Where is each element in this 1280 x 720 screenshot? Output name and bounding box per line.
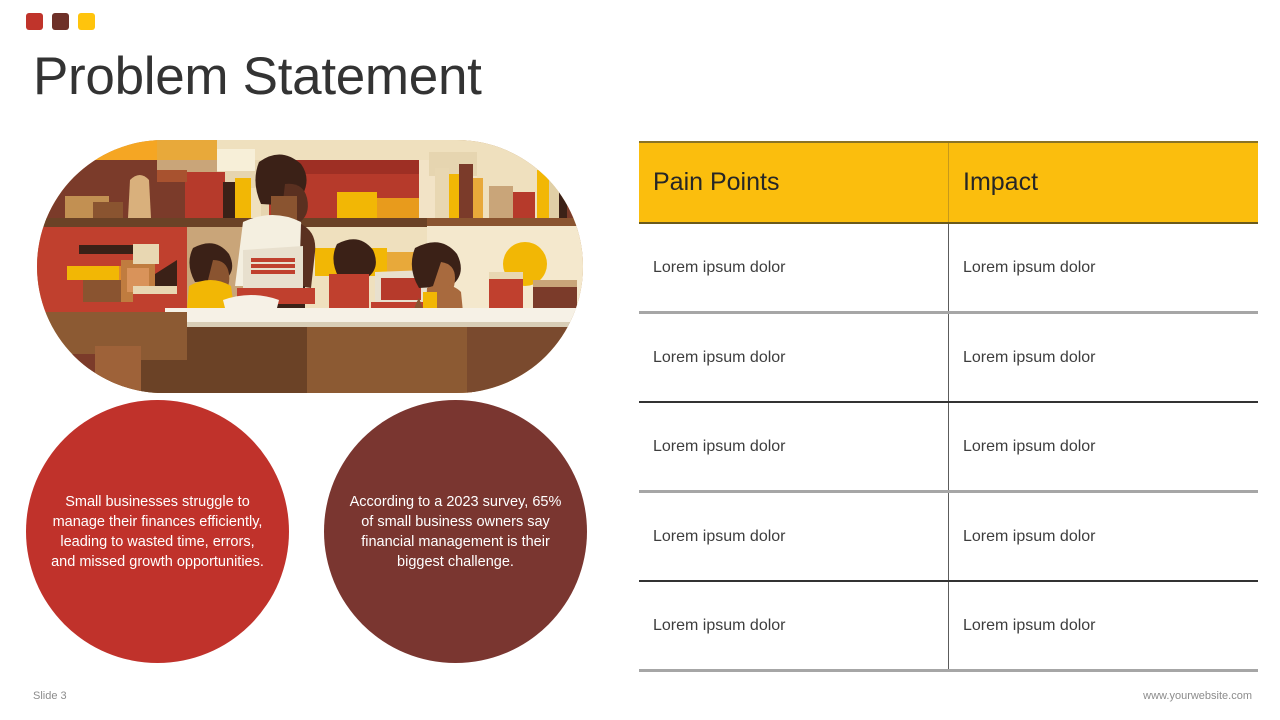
illustration-workshop-scene	[37, 140, 583, 393]
cell-pain-point: Lorem ipsum dolor	[639, 313, 949, 403]
slide-number: Slide 3	[33, 690, 67, 702]
slide-root: Problem Statement	[0, 0, 1280, 720]
cell-impact: Lorem ipsum dolor	[949, 492, 1259, 582]
circle-problem: Small businesses struggle to manage thei…	[26, 400, 289, 663]
decor-squares	[26, 13, 95, 30]
website-label: www.yourwebsite.com	[1143, 690, 1252, 702]
cell-pain-point: Lorem ipsum dolor	[639, 223, 949, 313]
circle-statistic-text: According to a 2023 survey, 65% of small…	[346, 492, 565, 572]
table-row: Lorem ipsum dolor Lorem ipsum dolor	[639, 492, 1258, 582]
cell-pain-point: Lorem ipsum dolor	[639, 581, 949, 671]
column-header-impact: Impact	[949, 142, 1259, 223]
table-row: Lorem ipsum dolor Lorem ipsum dolor	[639, 313, 1258, 403]
cell-pain-point: Lorem ipsum dolor	[639, 492, 949, 582]
cell-pain-point: Lorem ipsum dolor	[639, 402, 949, 492]
table-row: Lorem ipsum dolor Lorem ipsum dolor	[639, 223, 1258, 313]
pain-points-table: Pain Points Impact Lorem ipsum dolor Lor…	[639, 141, 1258, 672]
circle-statistic: According to a 2023 survey, 65% of small…	[324, 400, 587, 663]
column-header-pain-points: Pain Points	[639, 142, 949, 223]
table-header: Pain Points Impact	[639, 142, 1258, 223]
cell-impact: Lorem ipsum dolor	[949, 223, 1259, 313]
cell-impact: Lorem ipsum dolor	[949, 402, 1259, 492]
table-header-row: Pain Points Impact	[639, 142, 1258, 223]
table-row: Lorem ipsum dolor Lorem ipsum dolor	[639, 402, 1258, 492]
table-row: Lorem ipsum dolor Lorem ipsum dolor	[639, 581, 1258, 671]
square-red-icon	[26, 13, 43, 30]
circle-problem-text: Small businesses struggle to manage thei…	[48, 492, 267, 572]
cell-impact: Lorem ipsum dolor	[949, 581, 1259, 671]
square-gold-icon	[78, 13, 95, 30]
square-maroon-icon	[52, 13, 69, 30]
table-body: Lorem ipsum dolor Lorem ipsum dolor Lore…	[639, 223, 1258, 671]
page-title: Problem Statement	[33, 44, 482, 110]
cell-impact: Lorem ipsum dolor	[949, 313, 1259, 403]
